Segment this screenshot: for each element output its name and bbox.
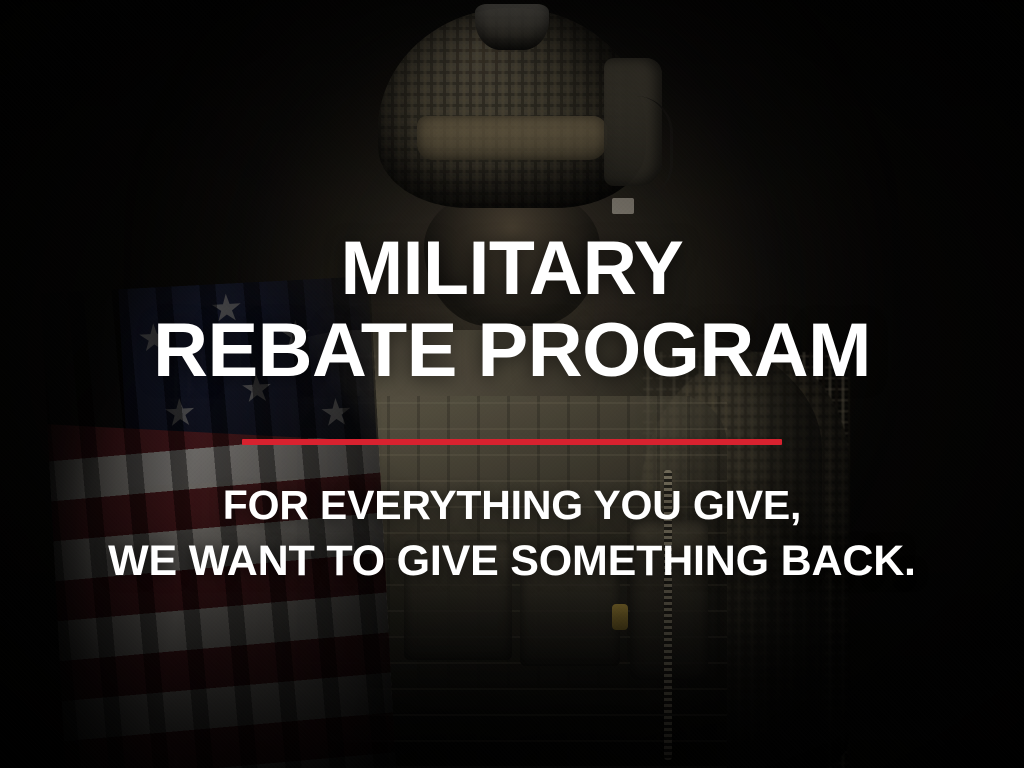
headline-line-2: REBATE PROGRAM [153, 315, 871, 388]
military-rebate-promo-slide: MILITARY REBATE PROGRAM FOR EVERYTHING Y… [0, 0, 1024, 768]
tagline-line-2: WE WANT TO GIVE SOMETHING BACK. [108, 540, 916, 584]
tagline: FOR EVERYTHING YOU GIVE, WE WANT TO GIVE… [108, 485, 916, 584]
text-overlay: MILITARY REBATE PROGRAM FOR EVERYTHING Y… [0, 0, 1024, 768]
tagline-line-1: FOR EVERYTHING YOU GIVE, [108, 485, 916, 527]
red-rule-divider [242, 439, 782, 445]
headline-line-1: MILITARY [157, 233, 868, 306]
page-title: MILITARY REBATE PROGRAM [153, 21, 871, 388]
